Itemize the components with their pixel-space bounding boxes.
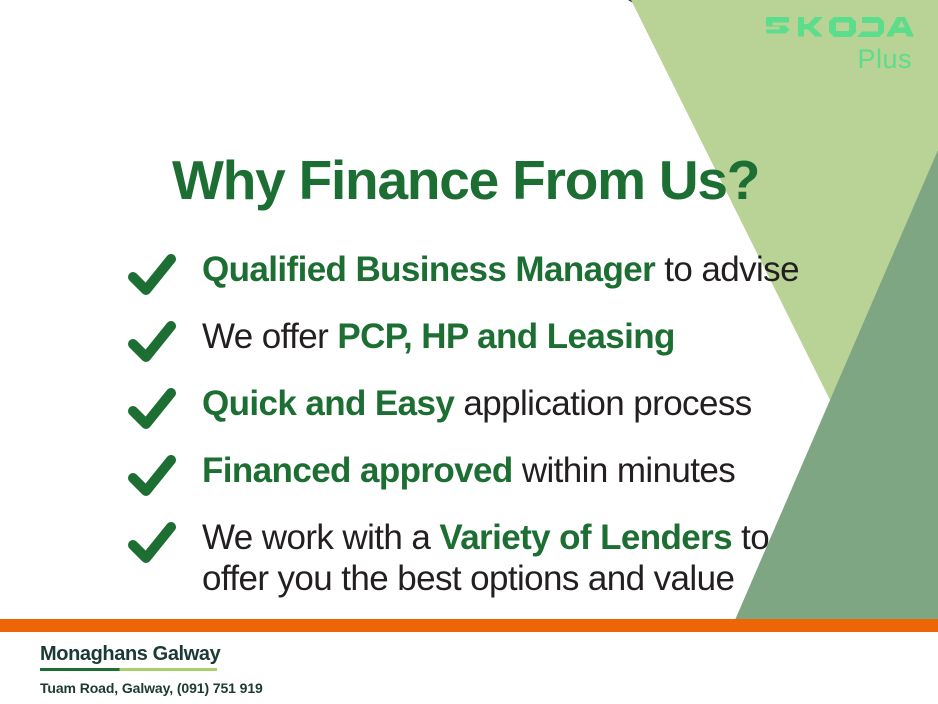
logo-sub-label: Plus	[766, 46, 912, 73]
emphasis-text: Quick and Easy	[202, 384, 454, 423]
emphasis-text: Variety of Lenders	[439, 518, 732, 557]
list-item: We offer PCP, HP and Leasing	[128, 317, 818, 365]
dealer-name: Monaghans Galway	[40, 643, 220, 666]
divider-bar	[0, 619, 938, 632]
list-item: Financed approved within minutes	[128, 451, 818, 499]
page-title: Why Finance From Us?	[172, 152, 759, 210]
dealer-footer: Monaghans Galway Tuam Road, Galway, (091…	[40, 643, 263, 696]
list-item-text: We offer PCP, HP and Leasing	[176, 317, 818, 358]
emphasis-text: Financed approved	[202, 451, 513, 490]
check-icon	[128, 386, 176, 432]
check-icon	[128, 453, 176, 499]
body-text: We work with a	[202, 518, 439, 557]
emphasis-text: PCP, HP and Leasing	[337, 317, 674, 356]
dealer-address: Tuam Road, Galway, (091) 751 919	[40, 680, 263, 696]
list-item-text: Financed approved within minutes	[176, 451, 818, 492]
dealer-name-underline	[40, 668, 217, 671]
list-item-text: Quick and Easy application process	[176, 384, 818, 425]
check-icon	[128, 252, 176, 298]
list-item-text: We work with a Variety of Lenders to off…	[176, 518, 818, 600]
emphasis-text: Qualified Business Manager	[202, 250, 655, 289]
skoda-wordmark-icon	[766, 14, 914, 45]
body-text: within minutes	[513, 451, 735, 490]
body-text: We offer	[202, 317, 337, 356]
list-item: We work with a Variety of Lenders to off…	[128, 518, 818, 600]
list-item: Qualified Business Manager to advise	[128, 250, 818, 298]
body-text: to advise	[655, 250, 799, 289]
benefits-list: Qualified Business Manager to advise We …	[128, 250, 818, 619]
check-icon	[128, 520, 176, 566]
promo-slide: Plus Why Finance From Us? Qualified Busi…	[0, 0, 938, 704]
list-item: Quick and Easy application process	[128, 384, 818, 432]
check-icon	[128, 319, 176, 365]
list-item-text: Qualified Business Manager to advise	[176, 250, 818, 291]
body-text: application process	[454, 384, 751, 423]
skoda-plus-logo: Plus	[766, 14, 914, 73]
